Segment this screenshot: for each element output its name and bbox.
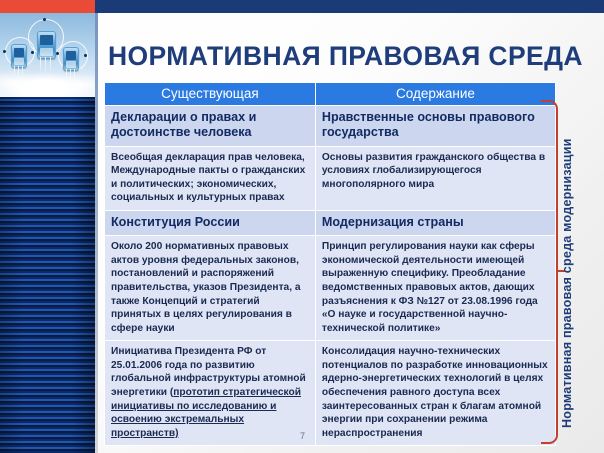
cell-moral-foundations-body: Основы развития гражданского общества в … (315, 146, 555, 210)
cell-consolidation-body: Консолидация научно-технических потенциа… (315, 341, 555, 446)
column-header-content: Содержание (315, 83, 555, 106)
table-row: Конституция России Модернизация страны (105, 210, 556, 235)
node-dot-icon (3, 50, 6, 53)
phone-icon (63, 47, 79, 71)
table-row: Всеобщая декларация прав человека, Между… (105, 146, 556, 210)
side-vertical-label: Нормативная правовая среда модернизации (560, 88, 582, 428)
left-decorative-column (0, 0, 95, 453)
node-dot-icon (43, 18, 46, 21)
node-dot-icon (31, 51, 34, 54)
cell-declarations-title: Декларации о правах и достоинстве челове… (105, 106, 316, 147)
cell-constitution-body: Около 200 нормативных правовых актов уро… (105, 236, 316, 341)
node-dot-icon (56, 52, 59, 55)
cell-modernization-body: Принцип регулирования науки как сферы эк… (315, 236, 555, 341)
striped-pattern (0, 97, 95, 453)
phones-cloud-photo (0, 13, 95, 97)
page-number: 7 (300, 431, 305, 441)
table-row: Около 200 нормативных правовых актов уро… (105, 236, 556, 341)
slide-canvas: НОРМАТИВНАЯ ПРАВОВАЯ СРЕДА Существующая … (0, 0, 604, 453)
content-table: Существующая Содержание Декларации о пра… (104, 82, 556, 446)
phone-icon (11, 44, 27, 68)
node-dot-icon (84, 54, 87, 57)
cell-declarations-body: Всеобщая декларация прав человека, Между… (105, 146, 316, 210)
left-column-edge (95, 13, 98, 453)
phone-icon (37, 31, 56, 59)
page-title: НОРМАТИВНАЯ ПРАВОВАЯ СРЕДА (108, 41, 558, 72)
table-row: Декларации о правах и достоинстве челове… (105, 106, 556, 147)
cell-modernization-title: Модернизация страны (315, 210, 555, 235)
cell-initiative-body: Инициатива Президента РФ от 25.01.2006 г… (105, 341, 316, 446)
summary-bracket (541, 100, 558, 444)
cell-moral-foundations-title: Нравственные основы правового государств… (315, 106, 555, 147)
left-red-accent (0, 0, 95, 13)
cell-constitution-title: Конституция России (105, 210, 316, 235)
table-header-row: Существующая Содержание (105, 83, 556, 106)
column-header-existing: Существующая (105, 83, 316, 106)
table-row: Инициатива Президента РФ от 25.01.2006 г… (105, 341, 556, 446)
top-bar-blue (88, 0, 604, 13)
